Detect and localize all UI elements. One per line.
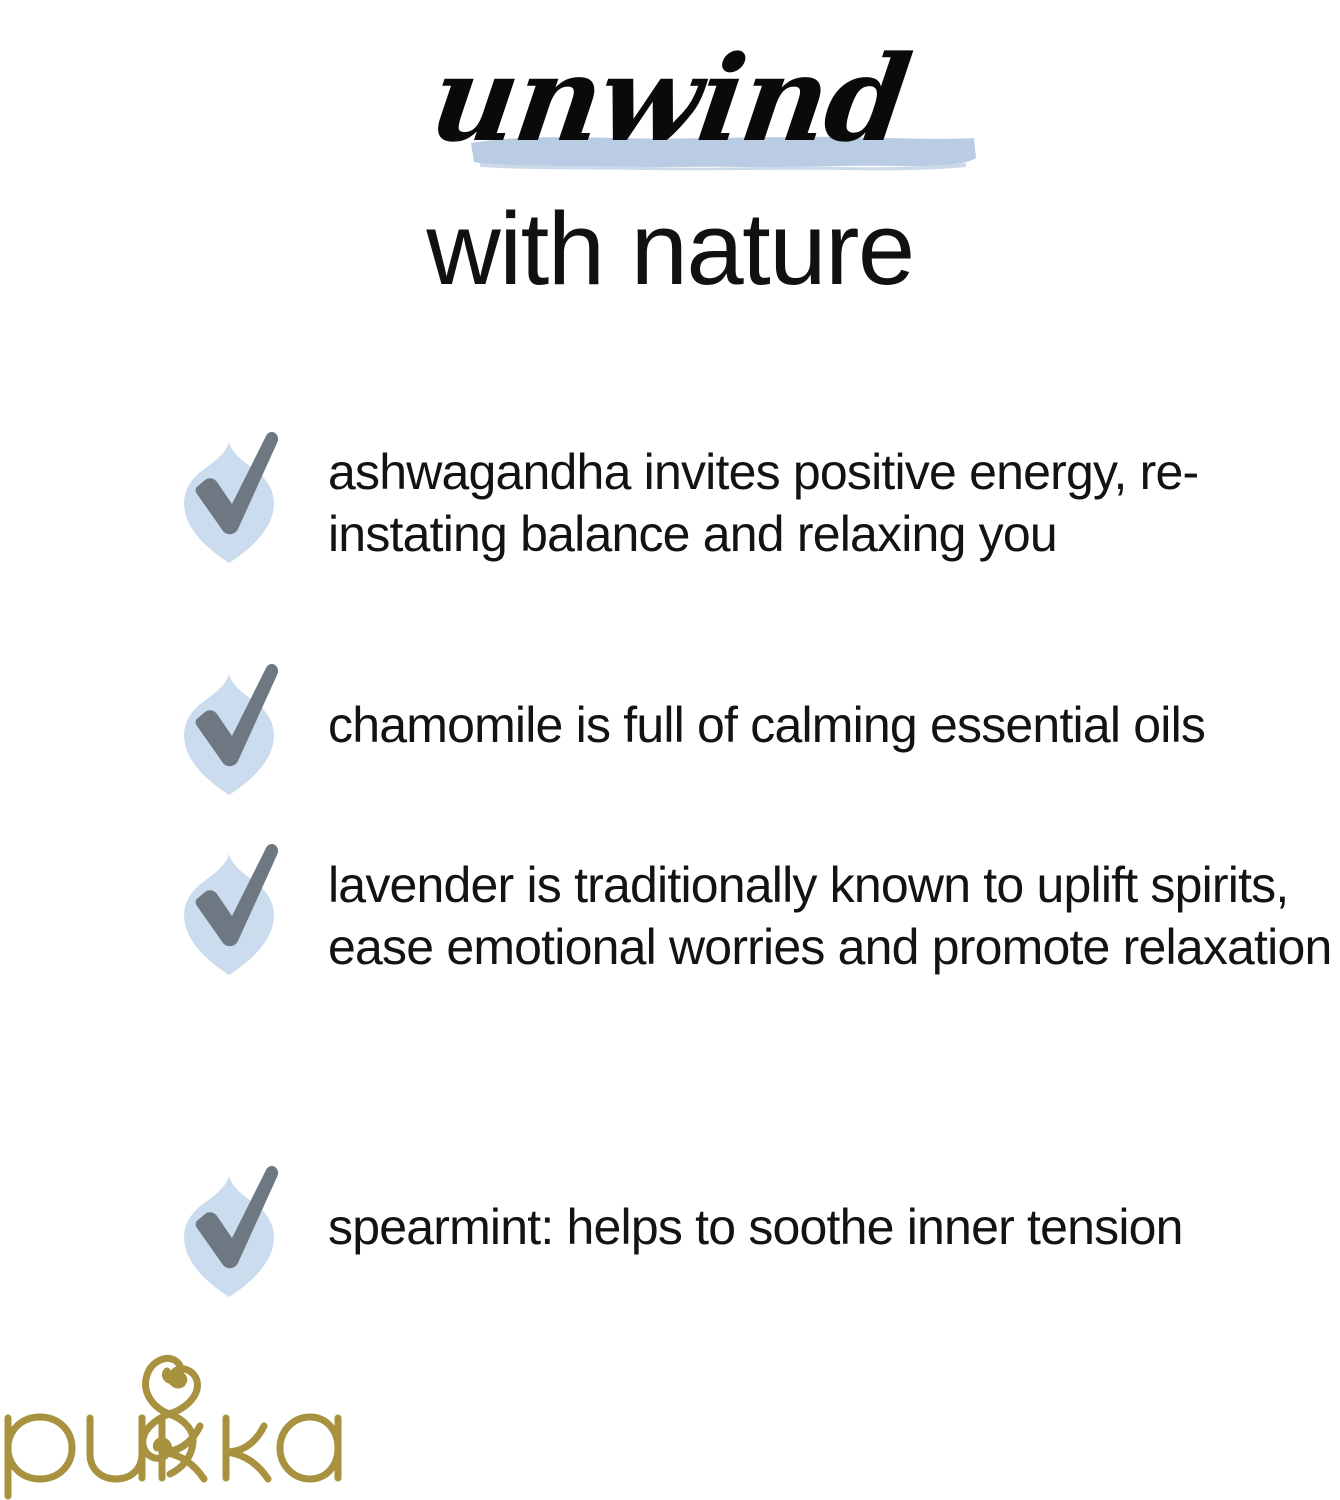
benefit-list: ashwagandha invites positive energy, re-… xyxy=(0,0,1340,1500)
leaf-check-icon xyxy=(170,424,288,566)
benefit-text: chamomile is full of calming essential o… xyxy=(328,694,1340,756)
benefit-text: ashwagandha invites positive energy, re-… xyxy=(328,441,1340,565)
benefit-text: spearmint: helps to soothe inner tension xyxy=(328,1196,1340,1258)
leaf-check-icon xyxy=(170,1158,288,1300)
benefit-text: lavender is traditionally known to uplif… xyxy=(328,854,1340,978)
leaf-check-icon xyxy=(170,836,288,978)
pukka-brand-logo xyxy=(0,1318,346,1500)
leaf-check-icon xyxy=(170,656,288,798)
